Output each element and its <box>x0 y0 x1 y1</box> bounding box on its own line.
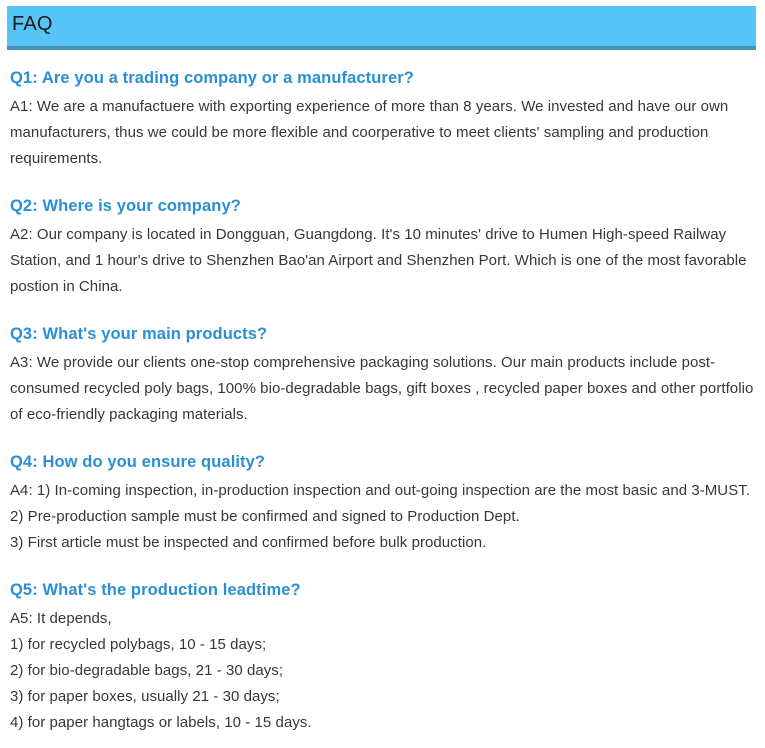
faq-answer-line: 3) for paper boxes, usually 21 - 30 days… <box>10 684 755 710</box>
faq-item: Q1: Are you a trading company or a manuf… <box>10 66 755 172</box>
faq-answer-line: 3) First article must be inspected and c… <box>10 530 755 556</box>
faq-answer: A4: 1) In-coming inspection, in-producti… <box>10 478 755 556</box>
faq-answer-line: A4: 1) In-coming inspection, in-producti… <box>10 478 755 504</box>
faq-answer-paragraph: A1: We are a manufactuere with exporting… <box>10 94 755 172</box>
faq-question: Q4: How do you ensure quality? <box>10 450 755 474</box>
faq-page: FAQ Q1: Are you a trading company or a m… <box>0 0 765 748</box>
faq-answer: A5: It depends,1) for recycled polybags,… <box>10 606 755 736</box>
faq-answer-paragraph: A2: Our company is located in Dongguan, … <box>10 222 755 300</box>
faq-question: Q1: Are you a trading company or a manuf… <box>10 66 755 90</box>
faq-answer-paragraph: A3: We provide our clients one-stop comp… <box>10 350 755 428</box>
faq-answer-line: A5: It depends, <box>10 606 755 632</box>
faq-item: Q2: Where is your company?A2: Our compan… <box>10 194 755 300</box>
faq-question: Q3: What's your main products? <box>10 322 755 346</box>
faq-answer: A3: We provide our clients one-stop comp… <box>10 350 755 428</box>
faq-list: Q1: Are you a trading company or a manuf… <box>10 66 755 736</box>
faq-answer-line: 2) Pre-production sample must be confirm… <box>10 504 755 530</box>
faq-item: Q3: What's your main products?A3: We pro… <box>10 322 755 428</box>
faq-question: Q5: What's the production leadtime? <box>10 578 755 602</box>
faq-question: Q2: Where is your company? <box>10 194 755 218</box>
faq-item: Q4: How do you ensure quality?A4: 1) In-… <box>10 450 755 556</box>
faq-answer: A2: Our company is located in Dongguan, … <box>10 222 755 300</box>
faq-answer-line: 2) for bio-degradable bags, 21 - 30 days… <box>10 658 755 684</box>
page-title: FAQ <box>12 11 53 37</box>
faq-answer-line: 4) for paper hangtags or labels, 10 - 15… <box>10 710 755 736</box>
faq-item: Q5: What's the production leadtime?A5: I… <box>10 578 755 736</box>
faq-answer: A1: We are a manufactuere with exporting… <box>10 94 755 172</box>
faq-header-bar: FAQ <box>7 6 756 50</box>
faq-answer-line: 1) for recycled polybags, 10 - 15 days; <box>10 632 755 658</box>
